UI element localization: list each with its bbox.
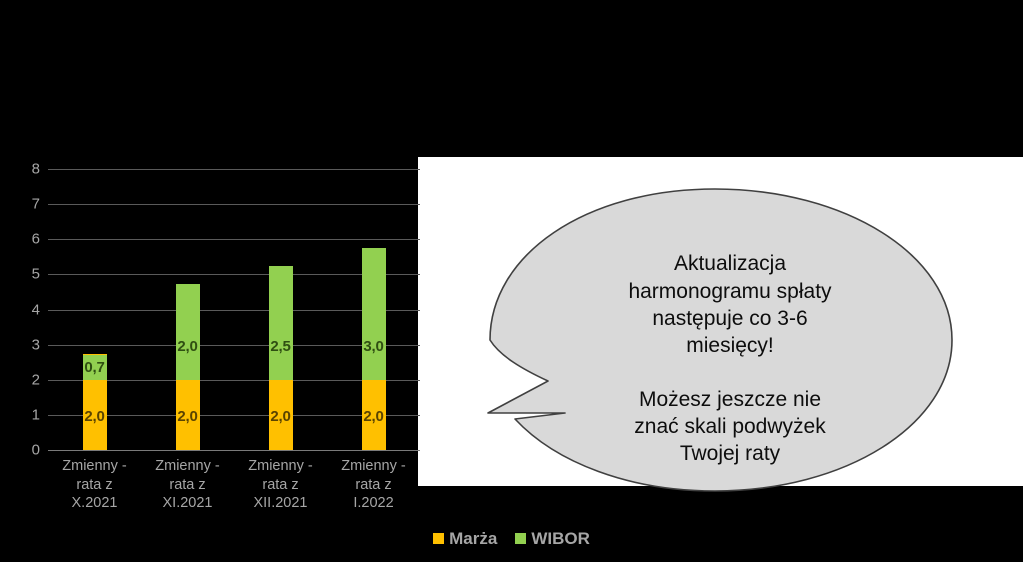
callout-paragraph-2: Możesz jeszcze nie znać skali podwyżek T…	[570, 386, 890, 468]
bar-segment-wibor[interactable]: 2,5	[269, 266, 293, 380]
callout-text: Aktualizacja harmonogramu spłaty następu…	[570, 223, 890, 495]
bar-group[interactable]: 2,03,0	[362, 169, 386, 450]
y-axis-tick-label: 7	[32, 197, 40, 212]
legend-color-swatch	[433, 533, 444, 544]
x-axis-labels: Zmienny - rata z X.2021Zmienny - rata z …	[48, 457, 420, 513]
legend-label: Marża	[449, 530, 497, 547]
y-axis-tick-label: 5	[32, 267, 40, 282]
y-axis-tick-label: 1	[32, 407, 40, 422]
legend-item[interactable]: Marża	[433, 530, 497, 547]
y-axis-tick-label: 6	[32, 232, 40, 247]
gridline-0	[48, 450, 420, 451]
bar-group[interactable]: 2,02,5	[269, 169, 293, 450]
bar-value-label: 2,0	[177, 409, 197, 424]
x-axis-category-label: Zmienny - rata z XI.2021	[141, 457, 234, 513]
bar-segment-wibor[interactable]: 3,0	[362, 248, 386, 379]
slide-canvas: 0123456782,00,72,02,02,02,52,03,0 Zmienn…	[0, 0, 1023, 562]
chart-plot-area: 0123456782,00,72,02,02,02,52,03,0	[48, 169, 420, 450]
y-axis-tick-label: 3	[32, 337, 40, 352]
callout-speech-bubble: Aktualizacja harmonogramu spłaty następu…	[470, 185, 960, 495]
legend-label: WIBOR	[531, 530, 590, 547]
bar-value-label: 2,0	[363, 409, 383, 424]
bar-group[interactable]: 2,00,7	[83, 169, 107, 450]
x-axis-category-label: Zmienny - rata z XII.2021	[234, 457, 327, 513]
legend-color-swatch	[515, 533, 526, 544]
bar-value-label: 2,0	[177, 339, 197, 354]
bar-value-label: 0,7	[84, 360, 104, 375]
bar-group[interactable]: 2,02,0	[176, 169, 200, 450]
callout-paragraph-1: Aktualizacja harmonogramu spłaty następu…	[628, 252, 831, 357]
stacked-bar-chart: 0123456782,00,72,02,02,02,52,03,0 Zmienn…	[0, 150, 420, 540]
y-axis-tick-label: 0	[32, 443, 40, 458]
y-axis-tick-label: 8	[32, 162, 40, 177]
bar-segment-wibor[interactable]: 0,7	[83, 355, 107, 380]
bar-value-label: 2,5	[270, 339, 290, 354]
legend-item[interactable]: WIBOR	[515, 530, 590, 547]
bar-value-label: 2,0	[84, 409, 104, 424]
y-axis-tick-label: 4	[32, 302, 40, 317]
y-axis-tick-label: 2	[32, 372, 40, 387]
x-axis-category-label: Zmienny - rata z I.2022	[327, 457, 420, 513]
bar-value-label: 3,0	[363, 339, 383, 354]
chart-legend: MarżaWIBOR	[0, 530, 1023, 547]
bar-value-label: 2,0	[270, 409, 290, 424]
bar-segment-wibor[interactable]: 2,0	[176, 284, 200, 380]
x-axis-category-label: Zmienny - rata z X.2021	[48, 457, 141, 513]
